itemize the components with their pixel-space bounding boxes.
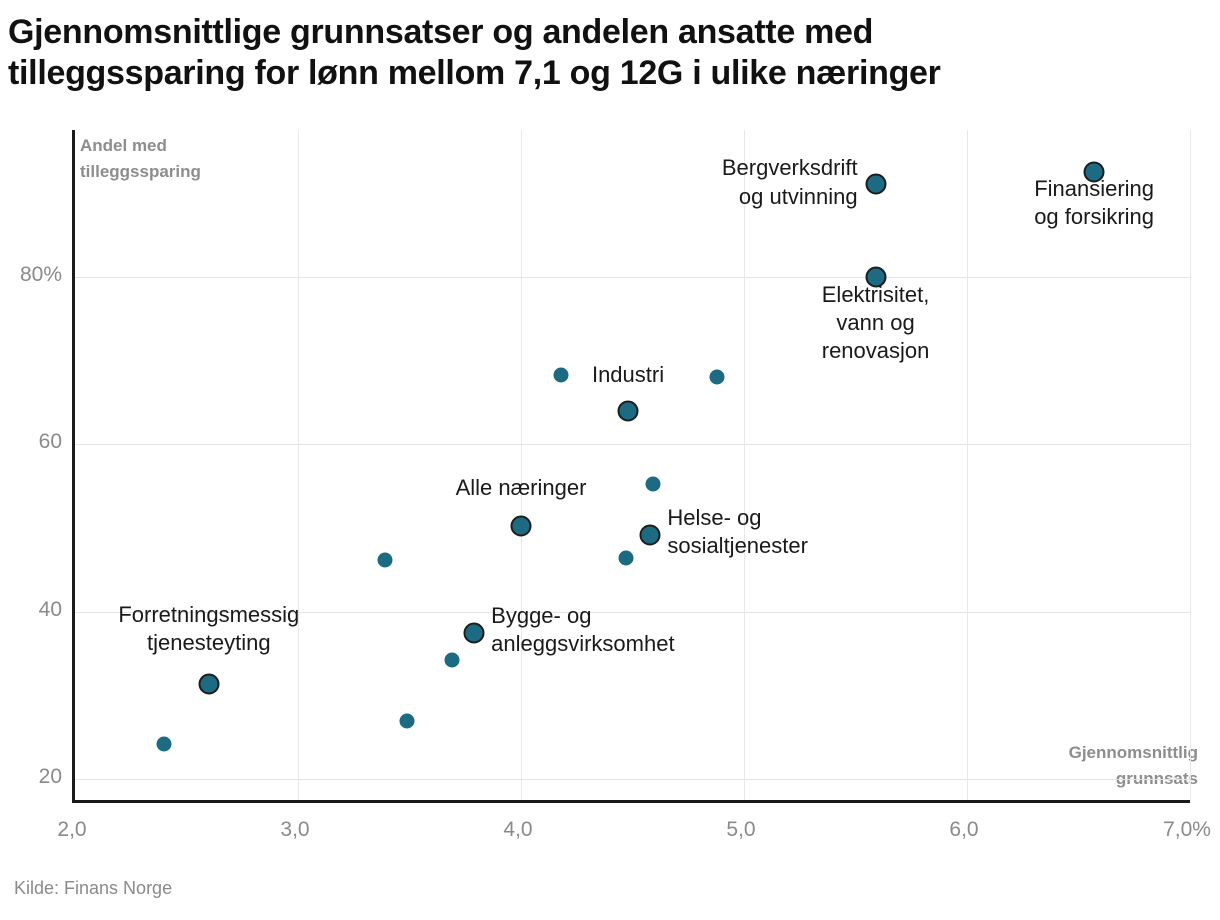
- point-label: Alle næringer: [456, 474, 587, 502]
- x-tick-label: 2,0: [57, 818, 86, 842]
- x-tick-label: 6,0: [949, 818, 978, 842]
- plot-inner: Finansiering og forsikringBergverksdrift…: [75, 130, 1190, 800]
- data-point[interactable]: [645, 477, 660, 492]
- x-tick-label: 4,0: [503, 818, 532, 842]
- point-label: Helse- og sosialtjenester: [667, 504, 808, 560]
- x-tick-label: 5,0: [726, 818, 755, 842]
- point-label: Industri: [592, 361, 664, 389]
- data-point[interactable]: [464, 623, 485, 644]
- point-label: Bygge- og anleggsvirksomhet: [491, 602, 674, 658]
- data-point[interactable]: [198, 673, 219, 694]
- scatter-chart: Gjennomsnittlige grunnsatser og andelen …: [0, 0, 1220, 920]
- gridline-vertical: [298, 130, 299, 800]
- data-point[interactable]: [640, 524, 661, 545]
- x-tick-label: 3,0: [280, 818, 309, 842]
- page-title: Gjennomsnittlige grunnsatser og andelen …: [8, 12, 1208, 95]
- gridline-vertical: [967, 130, 968, 800]
- x-tick-label: 7,0%: [1163, 818, 1211, 842]
- y-tick-label: 40: [0, 598, 62, 622]
- gridline-vertical: [521, 130, 522, 800]
- data-point[interactable]: [157, 736, 172, 751]
- gridline-horizontal: [75, 277, 1190, 278]
- gridline-vertical: [1190, 130, 1191, 800]
- data-point[interactable]: [710, 370, 725, 385]
- gridline-horizontal: [75, 779, 1190, 780]
- data-point[interactable]: [444, 653, 459, 668]
- point-label: Forretningsmessig tjenesteyting: [118, 601, 299, 657]
- y-tick-label: 80%: [0, 263, 62, 287]
- y-tick-label: 20: [0, 765, 62, 789]
- plot-area: Finansiering og forsikringBergverksdrift…: [72, 130, 1190, 803]
- data-point[interactable]: [618, 550, 633, 565]
- data-point[interactable]: [618, 400, 639, 421]
- point-label: Finansiering og forsikring: [1034, 175, 1154, 231]
- data-point[interactable]: [554, 367, 569, 382]
- data-point[interactable]: [400, 714, 415, 729]
- y-tick-label: 60: [0, 430, 62, 454]
- data-point[interactable]: [865, 174, 886, 195]
- gridline-horizontal: [75, 444, 1190, 445]
- gridline-vertical: [744, 130, 745, 800]
- data-point[interactable]: [511, 516, 532, 537]
- point-label: Elektrisitet, vann og renovasjon: [822, 281, 930, 365]
- point-label: Bergverksdrift og utvinning: [722, 154, 858, 210]
- data-point[interactable]: [377, 553, 392, 568]
- source-note: Kilde: Finans Norge: [14, 878, 172, 899]
